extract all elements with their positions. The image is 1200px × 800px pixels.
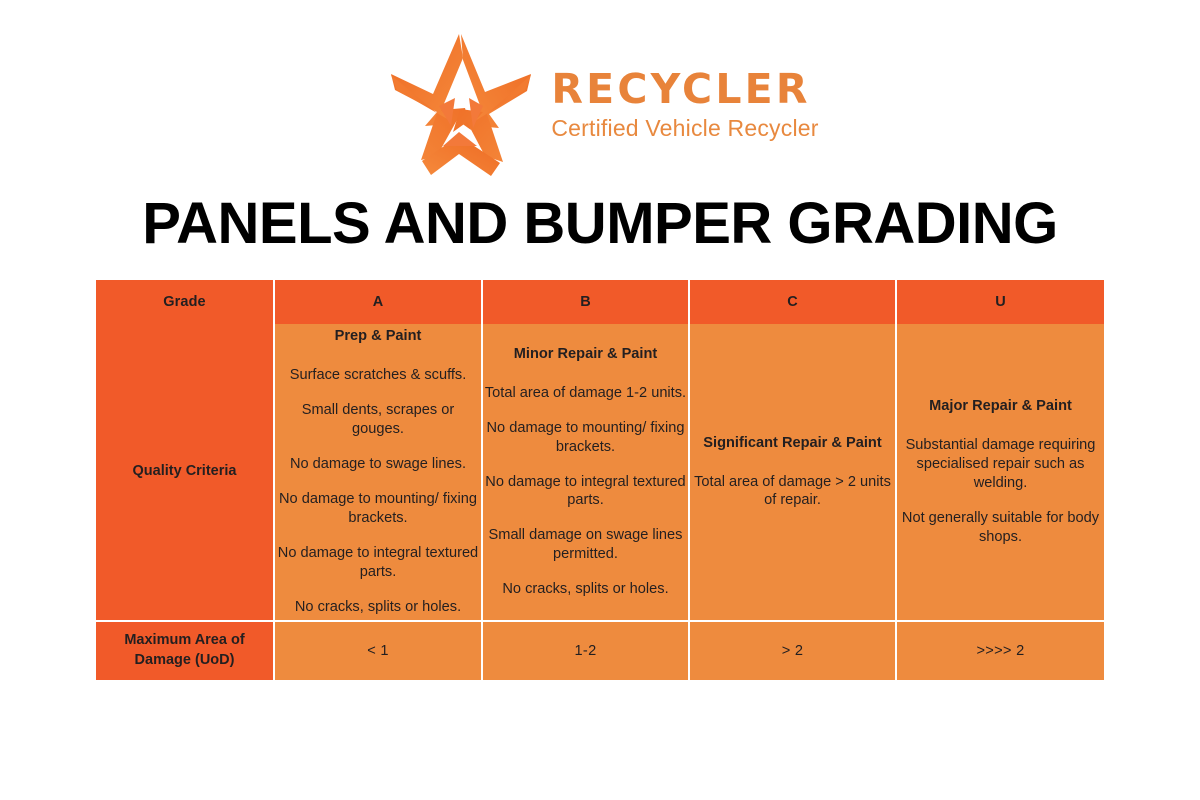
cell-quality-criteria-c: Significant Repair & Paint Total area of… — [690, 324, 897, 622]
table-row-max-area-of-damage: Maximum Area of Damage (UoD) < 1 1-2 > 2… — [96, 622, 1104, 680]
table-header-row: Grade A B C U — [96, 280, 1104, 324]
cell-a-heading: Prep & Paint — [275, 327, 481, 346]
cell-u-heading: Major Repair & Paint — [897, 397, 1104, 416]
cell-b-line-2: No damage to mounting/ fixing brackets. — [483, 419, 688, 457]
table-row-quality-criteria: Quality Criteria Prep & Paint Surface sc… — [96, 324, 1104, 622]
cell-a-line-2: Small dents, scrapes or gouges. — [275, 401, 481, 439]
brand-logo-block: RECYCLER Certified Vehicle Recycler — [0, 24, 1200, 184]
brand-name: RECYCLER — [551, 69, 818, 111]
cell-quality-criteria-b: Minor Repair & Paint Total area of damag… — [483, 324, 690, 622]
cell-b-line-1: Total area of damage 1-2 units. — [483, 384, 688, 403]
cell-uod-b: 1-2 — [483, 622, 690, 680]
cell-b-line-5: No cracks, splits or holes. — [483, 580, 688, 599]
cell-c-line-1: Total area of damage > 2 units of repair… — [690, 473, 895, 511]
cell-c-heading: Significant Repair & Paint — [690, 434, 895, 453]
cell-u-line-2: Not generally suitable for body shops. — [897, 509, 1104, 547]
cell-a-line-6: No cracks, splits or holes. — [275, 598, 481, 617]
header-grade-a: A — [275, 280, 483, 324]
page-title: PANELS AND BUMPER GRADING — [0, 193, 1200, 256]
cell-a-line-1: Surface scratches & scuffs. — [275, 366, 481, 385]
logo-wordmark: RECYCLER Certified Vehicle Recycler — [551, 63, 818, 145]
row-label-max-area-of-damage: Maximum Area of Damage (UoD) — [96, 622, 275, 680]
cell-quality-criteria-u: Major Repair & Paint Substantial damage … — [897, 324, 1104, 622]
cell-quality-criteria-a: Prep & Paint Surface scratches & scuffs.… — [275, 324, 483, 622]
header-grade-c: C — [690, 280, 897, 324]
header-grade-u: U — [897, 280, 1104, 324]
cell-uod-u: >>>> 2 — [897, 622, 1104, 680]
cell-a-line-5: No damage to integral textured parts. — [275, 544, 481, 582]
cell-b-heading: Minor Repair & Paint — [483, 345, 688, 364]
row-label-quality-criteria: Quality Criteria — [96, 324, 275, 622]
header-grade-b: B — [483, 280, 690, 324]
cell-uod-c: > 2 — [690, 622, 897, 680]
recycling-star-logo-icon — [381, 28, 541, 180]
cell-b-line-3: No damage to integral textured parts. — [483, 473, 688, 511]
brand-tagline: Certified Vehicle Recycler — [551, 111, 818, 146]
logo-inner: RECYCLER Certified Vehicle Recycler — [381, 28, 818, 180]
cell-uod-a: < 1 — [275, 622, 483, 680]
header-grade-label: Grade — [96, 280, 275, 324]
panels-bumper-grading-table: Grade A B C U Quality Criteria Prep & Pa… — [96, 280, 1104, 680]
cell-a-line-4: No damage to mounting/ fixing brackets. — [275, 490, 481, 528]
cell-u-line-1: Substantial damage requiring specialised… — [897, 436, 1104, 493]
cell-a-line-3: No damage to swage lines. — [275, 455, 481, 474]
cell-b-line-4: Small damage on swage lines permitted. — [483, 526, 688, 564]
